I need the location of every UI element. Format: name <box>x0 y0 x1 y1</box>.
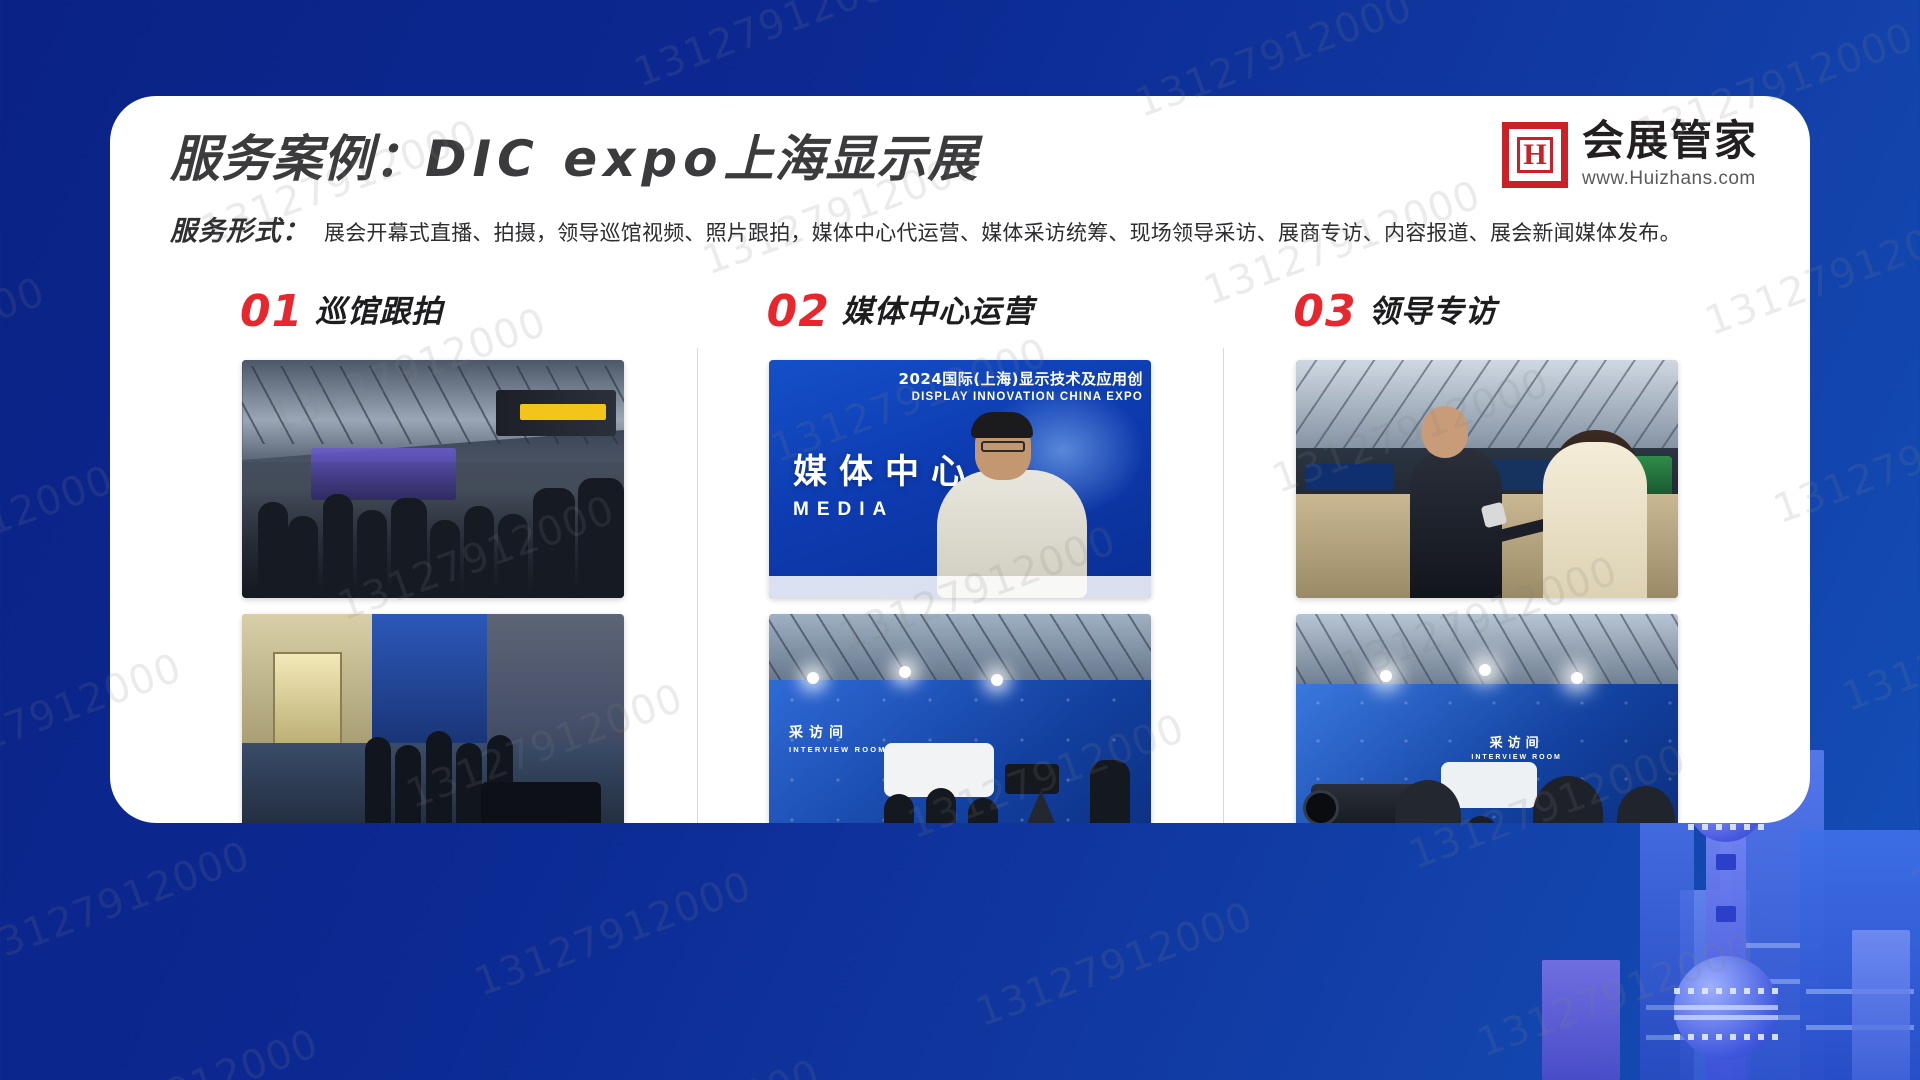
building-shape <box>1542 960 1620 1080</box>
huizhans-logo-icon <box>1502 122 1568 188</box>
watermark-text: 13127912000 <box>864 792 1365 1080</box>
media-center-sign-cn: 媒体中心 <box>793 444 977 493</box>
brand-name: 会展管家 <box>1582 120 1758 162</box>
service-form-text: 展会开幕式直播、拍摄，领导巡馆视频、照片跟拍，媒体中心代运营、媒体采访统筹、现场… <box>324 217 1681 247</box>
photo-leader-interview-floor[interactable]: AI+ <box>1296 360 1678 598</box>
section-column-01: 01 巡馆跟拍 <box>170 290 697 823</box>
building-shape <box>1680 890 1750 1080</box>
section-number: 01 <box>240 290 303 334</box>
sections-container: 01 巡馆跟拍 <box>110 248 1810 823</box>
brand-url: www.Huizhans.com <box>1582 168 1758 190</box>
watermark-text: 13127912000 <box>1798 665 1920 1011</box>
section-label: 媒体中心运营 <box>842 297 1034 328</box>
building-shape <box>1800 830 1920 1080</box>
card-header: 服务案例：DIC expo上海显示展 会展管家 www.Huizhans.com <box>110 96 1810 187</box>
section-photos: 2024国际(上海)显示技术及应用创 DISPLAY INNOVATION CH… <box>715 360 1206 823</box>
section-photos <box>188 360 679 823</box>
brand-logo[interactable]: 会展管家 www.Huizhans.com <box>1502 120 1758 190</box>
section-column-03: 03 领导专访 AI+ <box>1223 290 1750 823</box>
watermark-text: 13127912000 <box>955 0 1456 40</box>
section-heading: 02 媒体中心运营 <box>715 290 1206 334</box>
banner-cn: 2024国际(上海)显示技术及应用创 <box>899 368 1143 389</box>
interview-room-sign-cn: 采访间 <box>1471 732 1561 751</box>
interview-room-sign: 采访间 INTERVIEW ROOM <box>1471 732 1561 761</box>
page-title-latin: DIC expo <box>425 130 724 188</box>
photo-media-center-speaker[interactable]: 2024国际(上海)显示技术及应用创 DISPLAY INNOVATION CH… <box>769 360 1151 598</box>
building-shape <box>1852 930 1910 1080</box>
watermark-text: 13127912000 <box>0 919 431 1080</box>
section-label: 领导专访 <box>1369 297 1497 328</box>
photo-booth-tour-filming[interactable] <box>242 614 624 823</box>
section-heading: 03 领导专访 <box>1241 290 1732 334</box>
interview-room-sign-en: INTERVIEW ROOM <box>1471 754 1561 761</box>
page-title-cn-tail: 上海显示展 <box>724 130 979 188</box>
section-number: 03 <box>1293 290 1356 334</box>
service-form-row: 服务形式： 展会开幕式直播、拍摄，领导巡馆视频、照片跟拍，媒体中心代运营、媒体采… <box>110 187 1810 248</box>
section-number: 02 <box>767 290 830 334</box>
service-form-label: 服务形式： <box>170 209 310 248</box>
section-column-02: 02 媒体中心运营 2024国际(上海)显示技术及应用创 DISPLAY INN… <box>697 290 1224 823</box>
page-title-cn: 服务案例： <box>170 130 425 188</box>
content-card: 服务案例：DIC expo上海显示展 会展管家 www.Huizhans.com… <box>110 96 1810 823</box>
photo-banner-text: 2024国际(上海)显示技术及应用创 DISPLAY INNOVATION CH… <box>899 368 1143 403</box>
watermark-text: 13127912000 <box>1365 822 1866 1080</box>
section-label: 巡馆跟拍 <box>315 297 443 328</box>
watermark-text: 13127912000 <box>932 980 1433 1080</box>
watermark-text: 13127912000 <box>1456 0 1920 71</box>
section-photos: AI+ 采访间 INTERVIEW ROOM <box>1241 360 1732 823</box>
interview-room-sign-en: INTERVIEW ROOM <box>789 745 887 754</box>
photo-interview-room-crew[interactable]: 采访间 INTERVIEW ROOM <box>1296 614 1678 823</box>
interview-room-sign-cn: 采访间 <box>789 722 887 742</box>
building-shape <box>1640 820 1694 1080</box>
banner-en: DISPLAY INNOVATION CHINA EXPO <box>899 391 1143 403</box>
watermark-text: 13127912000 <box>431 950 932 1080</box>
section-heading: 01 巡馆跟拍 <box>188 290 679 334</box>
photo-exhibition-hall-crowd[interactable] <box>242 360 624 598</box>
interview-room-sign: 采访间 INTERVIEW ROOM <box>789 722 887 754</box>
photo-interview-room-wide[interactable]: 采访间 INTERVIEW ROOM <box>769 614 1151 823</box>
